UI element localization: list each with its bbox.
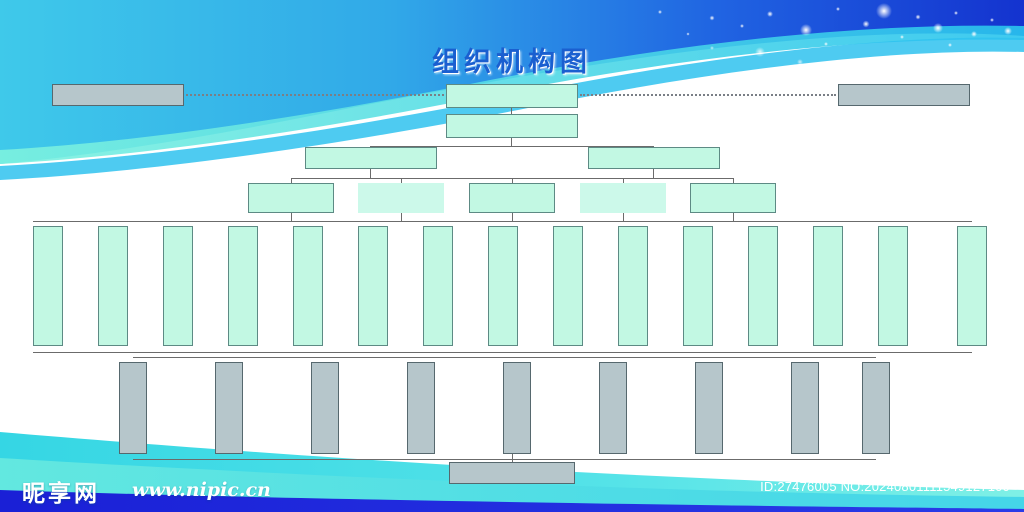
org-node-l5-13[interactable] (813, 226, 843, 346)
org-node-l6-2[interactable] (215, 362, 243, 454)
connector-l3-1-down (370, 169, 371, 178)
org-chart-poster: 组织机构图 (0, 0, 1024, 512)
org-node-l4-3[interactable] (469, 183, 555, 213)
connector-l6-bottom-bus (133, 459, 876, 460)
connector-l4-3-down (512, 213, 513, 221)
org-node-l6-5[interactable] (503, 362, 531, 454)
connector-l5-bus (33, 221, 972, 222)
org-node-l2-1[interactable] (446, 114, 578, 138)
org-node-l6-7[interactable] (695, 362, 723, 454)
watermark-url: www.nipic.cn (132, 479, 271, 501)
org-node-l6-4[interactable] (407, 362, 435, 454)
org-node-l7-1[interactable] (449, 462, 575, 484)
connector-l2-down (511, 138, 512, 146)
org-node-l6-1[interactable] (119, 362, 147, 454)
org-node-l6-6[interactable] (599, 362, 627, 454)
org-node-l4-5[interactable] (690, 183, 776, 213)
connector-l5-bottom-bus (33, 352, 972, 353)
connector-l4-5-down (733, 213, 734, 221)
org-node-l5-3[interactable] (163, 226, 193, 346)
org-node-l4-4[interactable] (580, 183, 666, 213)
org-node-l5-1[interactable] (33, 226, 63, 346)
watermark-id: ID:27476005 NO:20240801111549127100 (760, 479, 1010, 494)
org-node-l6-3[interactable] (311, 362, 339, 454)
org-node-l3-1[interactable] (305, 147, 437, 169)
connector-l3-2-down (653, 169, 654, 178)
org-node-l5-7[interactable] (423, 226, 453, 346)
org-node-l3-2[interactable] (588, 147, 720, 169)
dotted-connector-right (580, 94, 836, 96)
org-node-l5-10[interactable] (618, 226, 648, 346)
org-node-l5-12[interactable] (748, 226, 778, 346)
org-node-l1-center[interactable] (446, 84, 578, 108)
org-node-l5-15[interactable] (957, 226, 987, 346)
connector-l6-bus (133, 357, 876, 358)
org-node-l5-9[interactable] (553, 226, 583, 346)
org-node-l5-8[interactable] (488, 226, 518, 346)
org-node-l5-6[interactable] (358, 226, 388, 346)
dotted-connector-left (186, 94, 444, 96)
org-node-l4-2[interactable] (358, 183, 444, 213)
org-node-l6-9[interactable] (862, 362, 890, 454)
page-title: 组织机构图 (0, 40, 1024, 79)
connector-l4-1-down (291, 213, 292, 221)
org-node-l5-2[interactable] (98, 226, 128, 346)
org-node-l1-right[interactable] (838, 84, 970, 106)
org-node-l6-8[interactable] (791, 362, 819, 454)
org-node-l5-14[interactable] (878, 226, 908, 346)
connector-l4-4-down (623, 213, 624, 221)
connector-l4-2-down (401, 213, 402, 221)
org-node-l1-left[interactable] (52, 84, 184, 106)
org-node-l4-1[interactable] (248, 183, 334, 213)
org-node-l5-5[interactable] (293, 226, 323, 346)
watermark-logo: 昵享网 (22, 474, 100, 508)
org-node-l5-11[interactable] (683, 226, 713, 346)
org-node-l5-4[interactable] (228, 226, 258, 346)
